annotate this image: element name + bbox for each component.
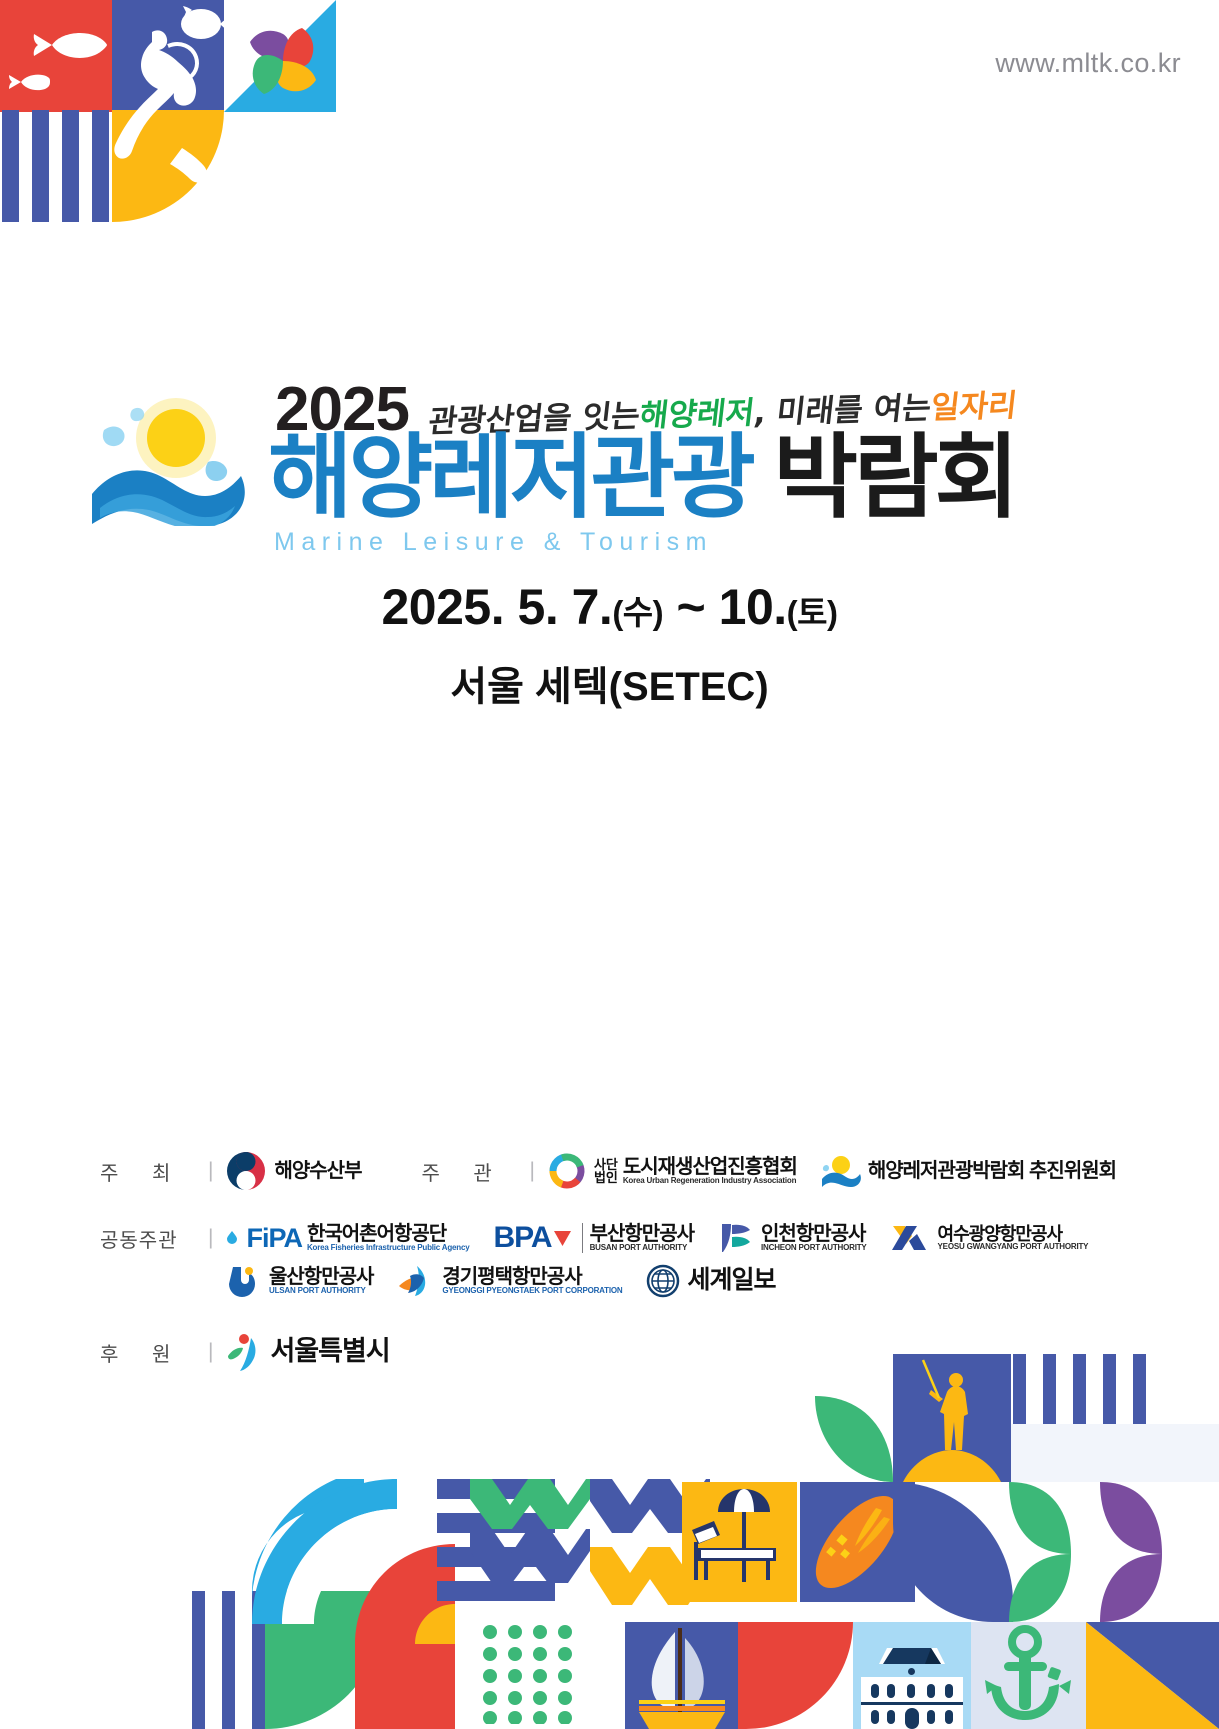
sponsor-prefix-kuria: 사단법인 bbox=[594, 1158, 618, 1185]
blue-stripes bbox=[0, 110, 112, 222]
sponsor-text-mof: 해양수산부 bbox=[274, 1161, 361, 1181]
sailboat bbox=[625, 1622, 738, 1729]
sun-wave-logo-icon bbox=[90, 396, 275, 526]
sponsor-item-committee: 해양레저관광박람회 추진위원회 bbox=[821, 1154, 1116, 1188]
sponsor-text-committee: 해양레저관광박람회 추진위원회 bbox=[868, 1161, 1116, 1181]
sponsor-label-host: 주 최 bbox=[100, 1157, 208, 1186]
date-end: 10. bbox=[719, 579, 787, 635]
sponsor-name-kuria: 도시재생산업진흥협회 bbox=[623, 1157, 797, 1177]
event-venue: 서울 세텍(SETEC) bbox=[0, 654, 1219, 712]
blue-stripes bbox=[1043, 1354, 1056, 1424]
date-range-tilde: ~ bbox=[663, 579, 718, 635]
blue-chevron bbox=[470, 1529, 590, 1609]
sponsor-text-kuria: 도시재생산업진흥협회 Korea Urban Regeneration Indu… bbox=[623, 1157, 797, 1186]
event-date: 2025. 5. 7.(수) ~ 10.(토) bbox=[0, 578, 1219, 636]
red-quarter-circle bbox=[738, 1622, 853, 1729]
sponsor-item-mof: 해양수산부 bbox=[225, 1150, 361, 1192]
blue-stripes bbox=[1073, 1354, 1086, 1424]
tagline-part-4: 일자리 bbox=[929, 380, 1020, 427]
pale-panel bbox=[1011, 1424, 1219, 1482]
blue-stripes bbox=[222, 1591, 235, 1729]
scuba-diver-icon bbox=[112, 28, 218, 193]
seaside-building bbox=[853, 1622, 971, 1729]
tagline-part-3: , 미래를 여는 bbox=[752, 382, 934, 432]
bottom-decorative-mosaic bbox=[0, 1229, 1219, 1729]
taegeuk-icon bbox=[225, 1150, 267, 1192]
event-title-tail: 박람회 bbox=[773, 427, 1015, 529]
blue-stripes bbox=[1133, 1354, 1146, 1424]
anchor bbox=[971, 1622, 1086, 1729]
sponsor-separator: | bbox=[208, 1159, 213, 1183]
green-dot-grid bbox=[482, 1624, 592, 1724]
sponsor-label-organizer: 주 관 bbox=[421, 1157, 529, 1186]
yellow-triangle bbox=[1086, 1622, 1219, 1729]
sponsor-name-en-kuria: Korea Urban Regeneration Industry Associ… bbox=[623, 1177, 797, 1185]
blue-stripes bbox=[1103, 1354, 1116, 1424]
sponsor-name-committee: 해양레저관광박람회 추진위원회 bbox=[868, 1161, 1116, 1181]
event-logo-block: 2025 관광산업을 잇는 해양레저, 미래를 여는 일자리 해양레저관광 박람… bbox=[90, 368, 1150, 568]
sponsor-row-host: 주 최 | 해양수산부 주 관 | bbox=[100, 1150, 1110, 1192]
ring-icon bbox=[547, 1151, 587, 1191]
event-subtitle: Marine Leisure & Tourism bbox=[274, 528, 713, 557]
date-start: 2025. 5. 7. bbox=[382, 579, 613, 635]
sponsor-item-kuria: 사단법인 도시재생산업진흥협회 Korea Urban Regeneration… bbox=[547, 1151, 797, 1191]
sponsor-separator: | bbox=[529, 1159, 534, 1183]
blue-stripes bbox=[192, 1591, 205, 1729]
poster-canvas: www.mltk.co.kr 2025 관광산업을 잇는 해양레저, 미래를 여… bbox=[0, 0, 1219, 1729]
sunwave-icon bbox=[821, 1154, 861, 1188]
fish-icon bbox=[30, 28, 108, 62]
date-weekday-start: (수) bbox=[612, 594, 663, 631]
date-weekday-end: (토) bbox=[787, 594, 838, 631]
event-title-main: 해양레저관광 bbox=[268, 427, 752, 529]
pinwheel-flower-icon bbox=[244, 22, 322, 100]
event-title: 해양레저관광 박람회 bbox=[268, 432, 1015, 524]
website-url: www.mltk.co.kr bbox=[995, 48, 1181, 79]
top-left-decorative-mosaic bbox=[0, 0, 340, 222]
fish-icon bbox=[8, 72, 50, 92]
sponsor-name-mof: 해양수산부 bbox=[274, 1161, 361, 1181]
purple-leaf bbox=[1100, 1482, 1219, 1622]
